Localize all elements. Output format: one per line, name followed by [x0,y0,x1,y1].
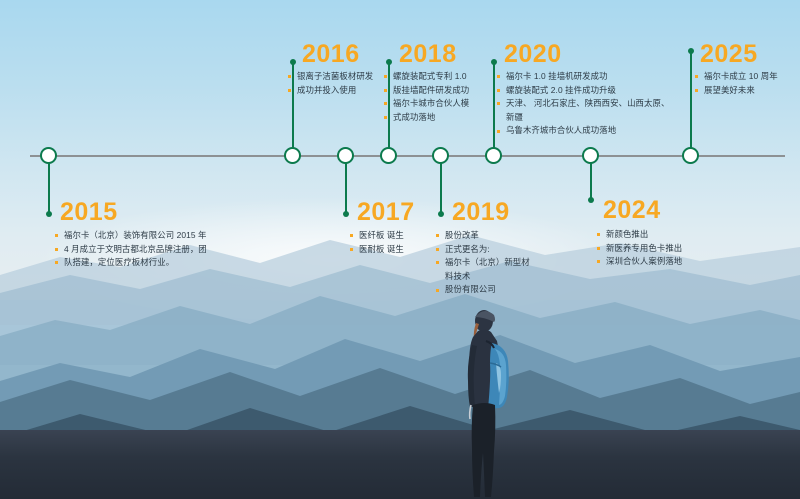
hiker-figure [440,305,530,499]
timeline-node-2019[interactable] [432,147,449,164]
list-item: 4 月成立于文明古都北京品牌注册，团 [55,243,235,257]
timeline-node-2016[interactable] [284,147,301,164]
timeline-node-2024[interactable] [582,147,599,164]
timeline-bullets-2017: 医纤板 诞生 医耐板 诞生 [350,229,440,256]
list-item: 新医养专用色卡推出 [597,242,717,256]
timeline-bullets-2018: 螺旋装配式专利 1.0 版挂墙配件研发成功 福尔卡城市合伙人模 式成功落地 [384,70,489,124]
timeline-bullets-2020: 福尔卡 1.0 挂墙机研发成功 螺旋装配式 2.0 挂件成功升级 天津、 河北石… [497,70,677,138]
timeline-year-2025: 2025 [700,42,758,67]
list-item: 版挂墙配件研发成功 [384,84,489,98]
timeline-year-2024: 2024 [603,198,661,223]
foreground-ground [0,430,800,499]
timeline-year-2018: 2018 [399,42,457,67]
timeline-bullets-2025: 福尔卡成立 10 周年 展望美好未来 [695,70,800,97]
timeline-stem-2024 [590,158,592,200]
list-item: 新颜色推出 [597,228,717,242]
list-item: 螺旋装配式 2.0 挂件成功升级 [497,84,677,98]
timeline-node-2017[interactable] [337,147,354,164]
list-item: 福尔卡 1.0 挂墙机研发成功 [497,70,677,84]
list-item: 福尔卡城市合伙人模 [384,97,489,111]
timeline-stem-2015 [48,158,50,214]
list-item: 成功并投入使用 [288,84,388,98]
timeline-node-2025[interactable] [682,147,699,164]
timeline-year-2020: 2020 [504,42,562,67]
timeline-bullets-2015: 福尔卡（北京）装饰有限公司 2015 年 4 月成立于文明古都北京品牌注册，团 … [55,229,235,270]
list-item: 银离子洁菌板材研发 [288,70,388,84]
list-item: 队搭建，定位医疗板材行业。 [55,256,235,270]
list-item: 正式更名为: [436,243,531,257]
timeline-bullets-2019: 股份改革 正式更名为: 福尔卡（北京）新型材料技术 股份有限公司 [436,229,531,297]
timeline-year-2015: 2015 [60,200,118,225]
timeline-axis [30,155,785,157]
list-item: 福尔卡（北京）新型材料技术 [436,256,531,283]
list-item: 深圳合伙人案例落地 [597,255,717,269]
timeline-year-2019: 2019 [452,200,510,225]
timeline-stem-2017 [345,158,347,214]
timeline-year-2016: 2016 [302,42,360,67]
list-item: 福尔卡成立 10 周年 [695,70,800,84]
list-item: 式成功落地 [384,111,489,125]
timeline-bullets-2016: 银离子洁菌板材研发 成功并投入使用 [288,70,388,97]
list-item: 医纤板 诞生 [350,229,440,243]
timeline-bullets-2024: 新颜色推出 新医养专用色卡推出 深圳合伙人案例落地 [597,228,717,269]
timeline-stem-2019 [440,158,442,214]
timeline-stem-2025 [690,51,692,148]
list-item: 螺旋装配式专利 1.0 [384,70,489,84]
list-item: 医耐板 诞生 [350,243,440,257]
list-item: 展望美好未来 [695,84,800,98]
list-item: 福尔卡（北京）装饰有限公司 2015 年 [55,229,235,243]
list-item: 股份改革 [436,229,531,243]
timeline-node-2015[interactable] [40,147,57,164]
timeline-year-2017: 2017 [357,200,415,225]
list-item: 天津、 河北石家庄、陕西西安、山西太原、新疆 [497,97,677,124]
timeline-node-2020[interactable] [485,147,502,164]
timeline-stem-2020 [493,62,495,148]
timeline-node-2018[interactable] [380,147,397,164]
list-item: 股份有限公司 [436,283,531,297]
list-item: 乌鲁木齐城市合伙人成功落地 [497,124,677,138]
